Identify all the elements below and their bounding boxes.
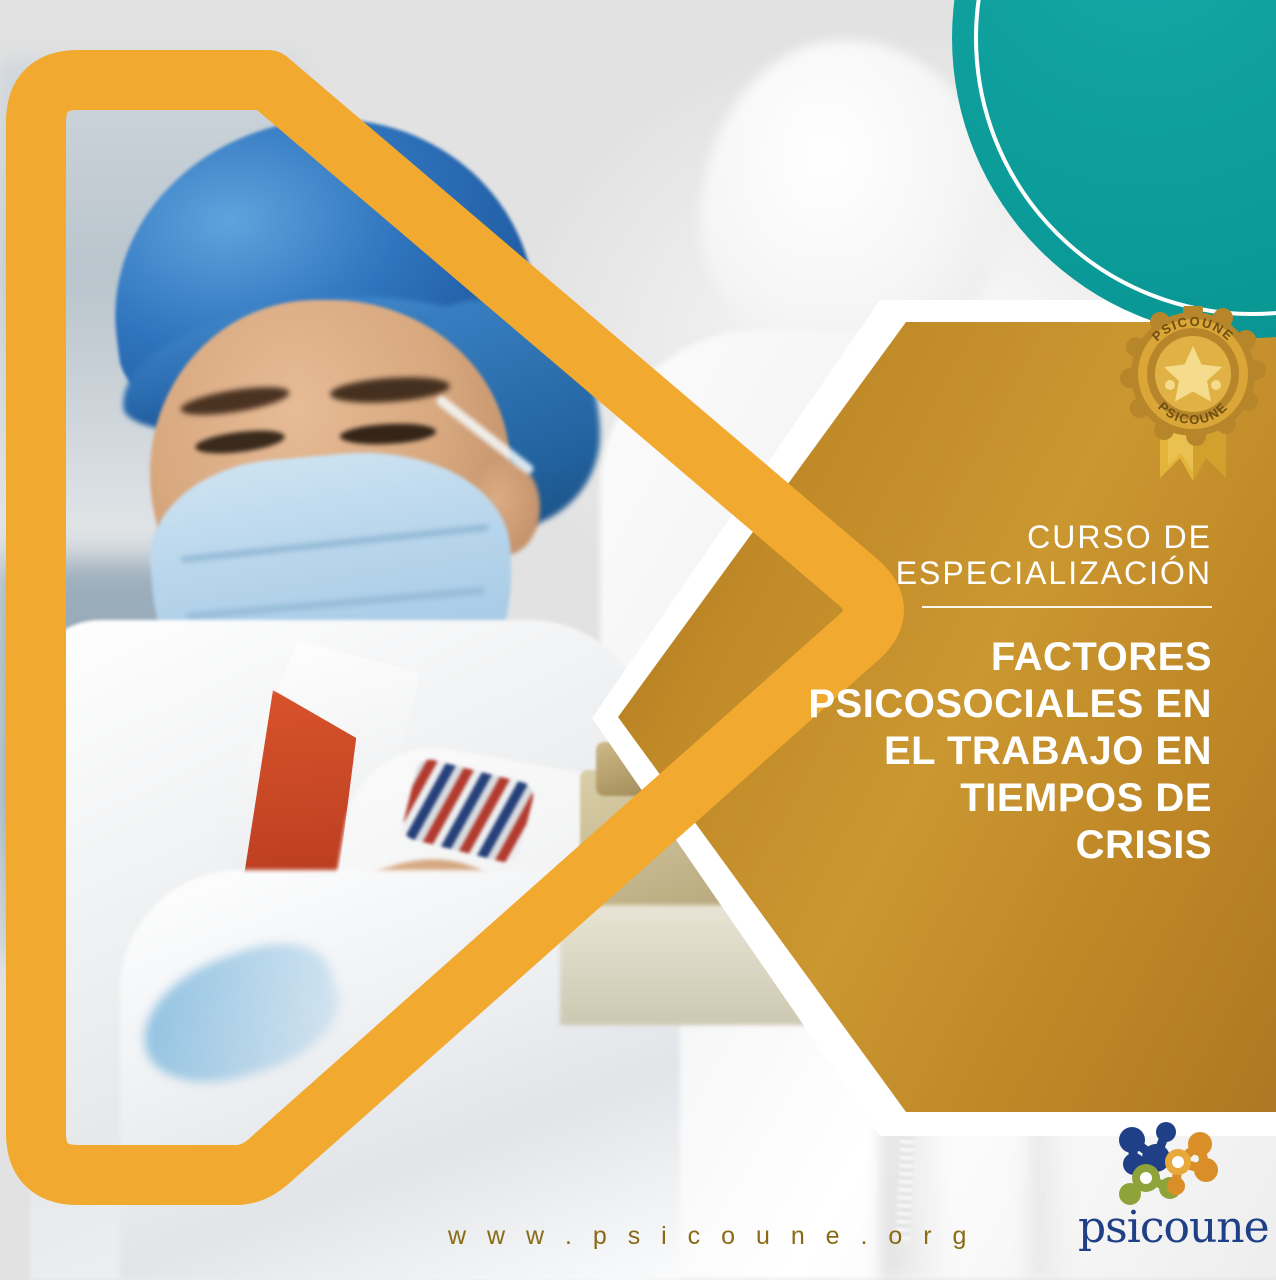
course-title-line-4: TIEMPOS DE xyxy=(760,775,1212,822)
course-title-line-5: CRISIS xyxy=(760,822,1212,869)
brand-logo: psicoune xyxy=(1078,1118,1258,1263)
course-title-line-1: FACTORES xyxy=(760,634,1212,681)
course-kicker-line-2: ESPECIALIZACIÓN xyxy=(760,556,1212,592)
course-title-line-2: PSICOSOCIALES EN xyxy=(760,681,1212,728)
badge-phone-row[interactable]: 958 xyxy=(1124,0,1264,2)
badge-phone-number: 958 xyxy=(1184,0,1264,2)
brand-name: psicoune xyxy=(1078,1206,1258,1250)
website-url[interactable]: w w w . p s i c o u n e . o r g xyxy=(448,1222,973,1251)
orange-frame-path xyxy=(36,80,874,1175)
course-info-block: CURSO DE ESPECIALIZACIÓN FACTORES PSICOS… xyxy=(760,520,1250,870)
promotional-poster: A S/. VACANTES LIMITADAS 958 xyxy=(0,0,1276,1280)
course-title-line-3: EL TRABAJO EN xyxy=(760,728,1212,775)
course-kicker-divider xyxy=(922,606,1212,608)
course-kicker-line-1: CURSO DE xyxy=(760,520,1212,556)
award-seal-icon: PSICOUNE PSICOUNE xyxy=(1118,306,1268,491)
molecule-icon xyxy=(1108,1118,1236,1210)
